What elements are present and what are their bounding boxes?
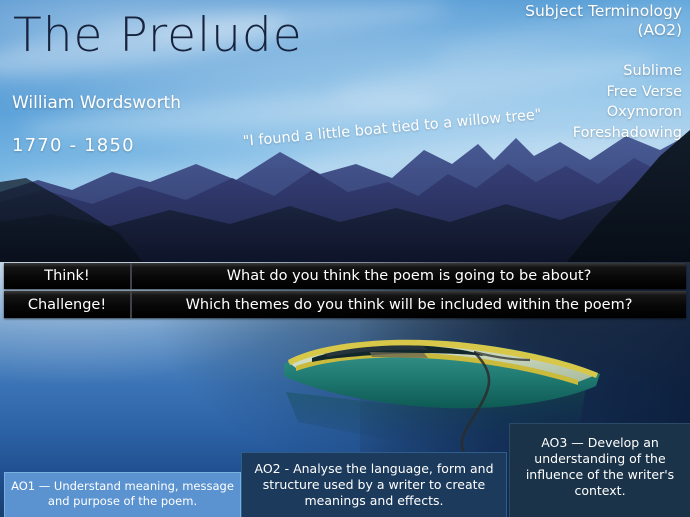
terminology-term: Oxymoron (573, 102, 682, 123)
terminology-term: Foreshadowing (573, 123, 682, 144)
page-title: The Prelude (13, 8, 303, 63)
question-bar-challenge: Challenge! Which themes do you think wil… (4, 291, 686, 318)
terminology-term: Free Verse (573, 82, 682, 103)
question-text-challenge: Which themes do you think will be includ… (132, 291, 686, 318)
terminology-list: Sublime Free Verse Oxymoron Foreshadowin… (573, 61, 682, 143)
objective-box-ao3: AO3 — Develop an understanding of the in… (509, 423, 690, 517)
terminology-term: Sublime (573, 61, 682, 82)
question-label-think: Think! (4, 263, 132, 289)
author-name: William Wordsworth (12, 93, 181, 113)
author-dates: 1770 - 1850 (12, 135, 135, 156)
objective-box-ao1: AO1 — Understand meaning, message and pu… (4, 472, 241, 517)
terminology-heading-line1: Subject Terminology (525, 2, 682, 21)
terminology-heading-line2: (AO2) (525, 21, 682, 40)
objective-box-ao2: AO2 - Analyse the language, form and str… (241, 452, 507, 517)
terminology-heading: Subject Terminology (AO2) (525, 2, 682, 41)
question-text-think: What do you think the poem is going to b… (132, 263, 686, 289)
presentation-slide: The Prelude William Wordsworth 1770 - 18… (0, 0, 690, 517)
question-label-challenge: Challenge! (4, 291, 132, 318)
question-bar-think: Think! What do you think the poem is goi… (4, 263, 686, 289)
